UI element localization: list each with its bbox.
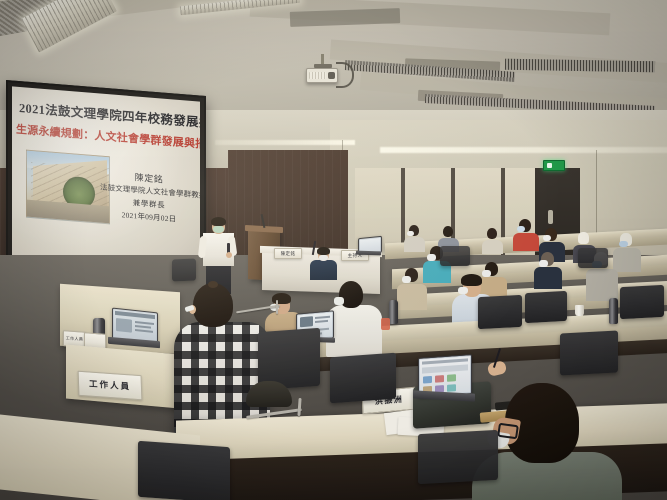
eyeglasses xyxy=(497,423,519,440)
chair-back[interactable] xyxy=(330,353,396,404)
drink-bottle xyxy=(381,318,390,330)
cove-light xyxy=(215,140,355,145)
lecture-hall-photo: 2021法鼓文理學院四年校務發展共識營 生源永續規劃：人文社會學群發展與招生策略… xyxy=(0,0,667,500)
face-mask xyxy=(334,297,344,305)
staff-placard: 工作人員 xyxy=(78,371,143,401)
name-placard: 陳定銘 xyxy=(274,248,302,259)
face-mask xyxy=(213,226,224,233)
moderator-hair xyxy=(317,247,330,255)
presenter-hand xyxy=(226,252,232,258)
placard-text: 陳定銘 xyxy=(275,249,301,258)
laptop-base[interactable] xyxy=(356,251,381,256)
face-mask xyxy=(458,287,468,294)
chair-back[interactable] xyxy=(578,248,608,268)
chair-back[interactable] xyxy=(418,430,498,484)
chair-back[interactable] xyxy=(172,259,196,282)
projector-lens xyxy=(328,72,335,79)
paper-cup xyxy=(575,305,584,316)
attendee-torso xyxy=(326,305,382,357)
projector-cable xyxy=(336,62,354,88)
door-handle[interactable] xyxy=(548,210,553,224)
presenter-hair xyxy=(211,217,226,226)
chair-back[interactable] xyxy=(525,291,567,323)
cove-light xyxy=(380,147,667,153)
exit-sign-icon xyxy=(543,160,565,171)
ceiling-projector xyxy=(306,68,338,83)
thermos-bottle xyxy=(609,298,618,324)
moderator-shirt xyxy=(310,260,337,280)
chair-back[interactable] xyxy=(560,330,618,375)
slide-surface: 2021法鼓文理學院四年校務發展共識營 生源永續規劃：人文社會學群發展與招生策略… xyxy=(12,86,200,275)
ceiling-vent xyxy=(290,8,400,27)
chair-back[interactable] xyxy=(138,441,230,500)
staff-placard-text: 工作人員 xyxy=(79,372,142,399)
gooseneck-microphone-stem xyxy=(276,300,278,314)
thermos-bottle xyxy=(389,300,398,324)
chair-back[interactable] xyxy=(620,285,664,319)
face-mask xyxy=(319,255,328,261)
attendee-hair xyxy=(461,274,482,286)
hair-tie xyxy=(208,281,218,288)
chair-back[interactable] xyxy=(440,246,470,266)
attendee-hair xyxy=(272,293,291,304)
chair-back[interactable] xyxy=(478,295,522,329)
projection-screen: 2021法鼓文理學院四年校務發展共識營 生源永續規劃：人文社會學群發展與招生策略… xyxy=(6,80,206,282)
attendee-head-back-view xyxy=(193,283,233,327)
